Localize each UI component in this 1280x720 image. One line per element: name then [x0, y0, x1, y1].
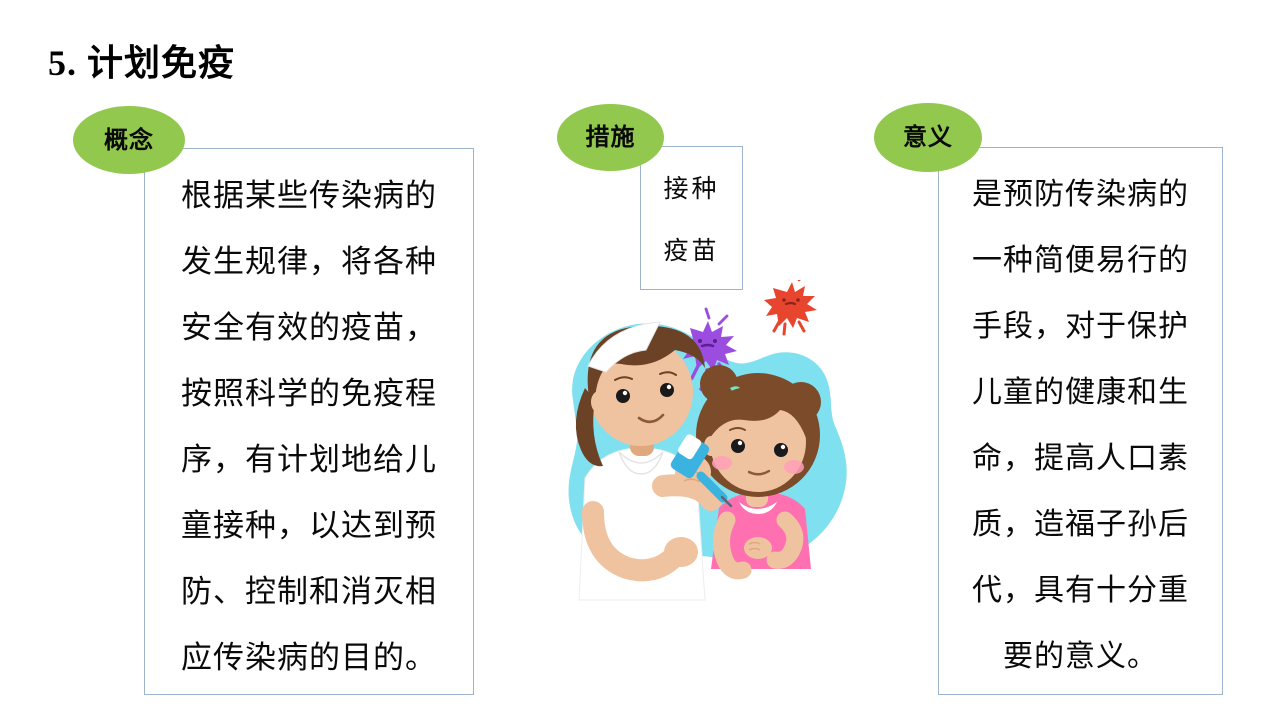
meaning-line: 是预防传染病的: [939, 162, 1222, 228]
meaning-badge-label: 意义: [903, 117, 953, 152]
meaning-line: 代，具有十分重: [939, 558, 1222, 624]
meaning-line: 一种简便易行的: [939, 228, 1222, 294]
concept-line: 安全有效的疫苗，: [145, 295, 473, 361]
meaning-panel-text: 是预防传染病的 一种简便易行的 手段，对于保护 儿童的健康和生 命，提高人口素 …: [939, 162, 1222, 690]
measure-panel-box: 接种 疫苗: [640, 146, 743, 290]
concept-line: 序，有计划地给儿: [145, 427, 473, 493]
concept-line: 童接种，以达到预: [145, 493, 473, 559]
concept-line: 防、控制和消灭相: [145, 559, 473, 625]
concept-panel-box: 根据某些传染病的 发生规律，将各种 安全有效的疫苗， 按照科学的免疫程 序，有计…: [144, 148, 474, 695]
page-title: 5. 计划免疫: [48, 34, 235, 86]
girl-figure: [696, 365, 821, 571]
concept-panel-text: 根据某些传染病的 发生规律，将各种 安全有效的疫苗， 按照科学的免疫程 序，有计…: [145, 163, 473, 691]
nurse-vaccinating-girl-illustration: [533, 280, 878, 610]
concept-line: 应传染病的目的。: [145, 625, 473, 691]
meaning-badge[interactable]: 意义: [874, 103, 982, 172]
meaning-panel-box: 是预防传染病的 一种简便易行的 手段，对于保护 儿童的健康和生 命，提高人口素 …: [938, 147, 1223, 695]
measure-badge[interactable]: 措施: [557, 104, 664, 171]
concept-line: 按照科学的免疫程: [145, 361, 473, 427]
concept-line: 发生规律，将各种: [145, 229, 473, 295]
concept-line: 根据某些传染病的: [145, 163, 473, 229]
measure-line: 接种: [641, 159, 742, 221]
meaning-line: 手段，对于保护: [939, 294, 1222, 360]
measure-panel-text: 接种 疫苗: [641, 159, 742, 283]
germ-red-icon: [764, 280, 817, 334]
meaning-line: 儿童的健康和生: [939, 360, 1222, 426]
meaning-line: 质，造福子孙后: [939, 492, 1222, 558]
concept-badge[interactable]: 概念: [73, 106, 185, 174]
meaning-line: 要的意义。: [939, 624, 1222, 690]
measure-badge-label: 措施: [586, 117, 636, 152]
measure-line: 疫苗: [641, 221, 742, 283]
meaning-line: 命，提高人口素: [939, 426, 1222, 492]
concept-badge-label: 概念: [104, 120, 154, 155]
